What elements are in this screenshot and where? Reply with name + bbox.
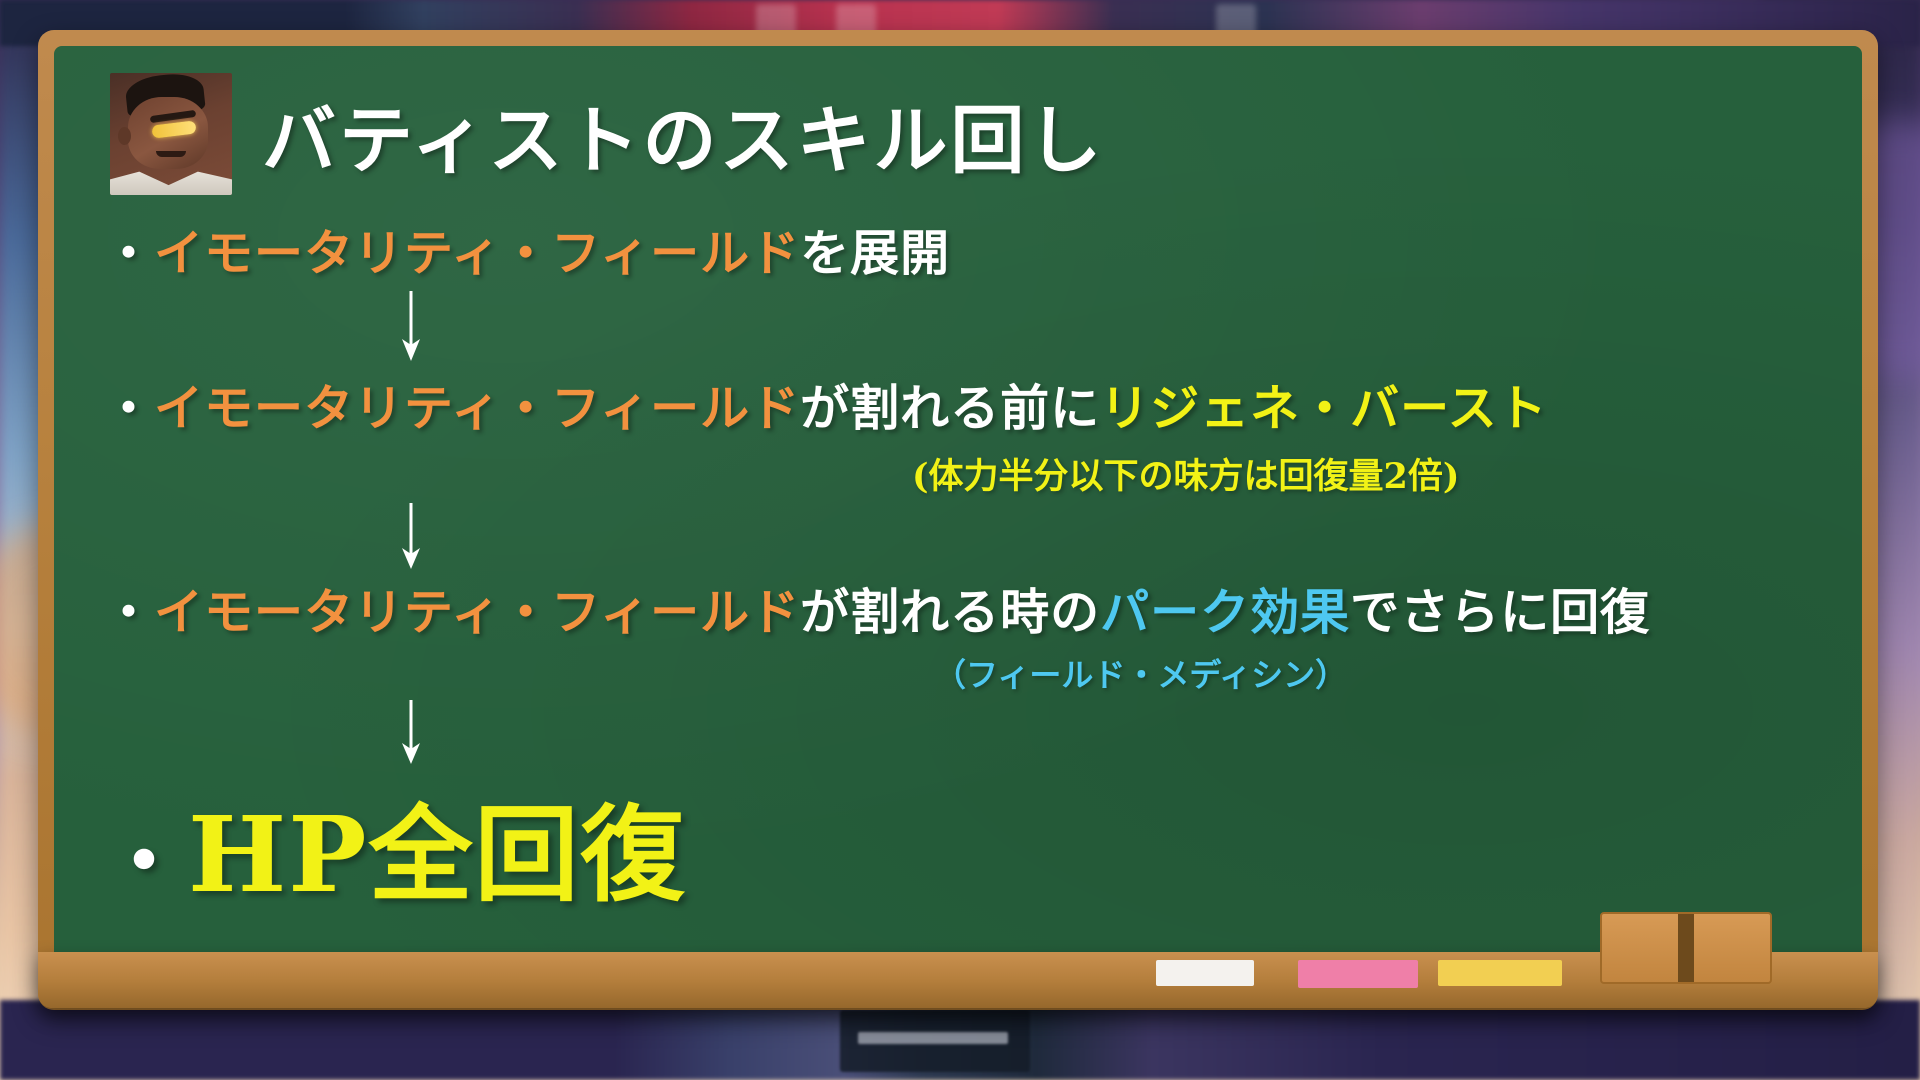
- step-3-bullet: ・: [104, 583, 154, 641]
- chalk-pink: [1298, 960, 1418, 988]
- baptiste-portrait-icon: [110, 73, 232, 195]
- page-title: バティストのスキル回し: [262, 81, 1105, 188]
- step-1: ・イモータリティ・フィールドを展開: [104, 214, 1822, 285]
- arrow-2-wrap: [94, 501, 1822, 573]
- step-3-tail: でさらに回復: [1350, 583, 1650, 641]
- step-1-bullet: ・: [104, 224, 154, 282]
- step-1-skill: イモータリティ・フィールド: [154, 224, 800, 282]
- chalkboard-surface: バティストのスキル回し ・イモータリティ・フィールドを展開 ・イモータリティ・フ…: [54, 46, 1862, 994]
- step-2-note: (体力半分以下の味方は回復量2倍): [912, 448, 1822, 499]
- step-2-skill: イモータリティ・フィールド: [154, 379, 800, 437]
- step-2-emphasis: リジェネ・バースト: [1100, 379, 1548, 437]
- widget-text-placeholder: [858, 1032, 1008, 1044]
- step-3-mid: が割れる時の: [800, 583, 1100, 641]
- screen-capture: バティストのスキル回し ・イモータリティ・フィールドを展開 ・イモータリティ・フ…: [0, 0, 1920, 1080]
- chalkboard-frame: バティストのスキル回し ・イモータリティ・フィールドを展開 ・イモータリティ・フ…: [38, 30, 1878, 1010]
- step-2-mid: が割れる前に: [800, 379, 1100, 437]
- step-3-emphasis: パーク効果: [1100, 583, 1350, 641]
- arrow-3-wrap: [94, 698, 1822, 768]
- result-bullet: ・: [102, 812, 188, 911]
- chalk-yellow: [1438, 960, 1562, 986]
- eraser: [1600, 912, 1772, 984]
- down-arrow-icon: [389, 501, 433, 571]
- step-3: ・イモータリティ・フィールドが割れる時のパーク効果でさらに回復: [104, 573, 1822, 644]
- chalk-tray: [38, 952, 1878, 1008]
- result-text: HP全回復: [188, 793, 686, 916]
- chalkboard-content: バティストのスキル回し ・イモータリティ・フィールドを展開 ・イモータリティ・フ…: [54, 46, 1862, 994]
- step-2-bullet: ・: [104, 379, 154, 437]
- chalk-white: [1156, 960, 1254, 986]
- down-arrow-icon: [389, 289, 433, 363]
- stream-overlay-widget: [840, 1010, 1030, 1072]
- step-2: ・イモータリティ・フィールドが割れる前にリジェネ・バースト: [104, 369, 1822, 440]
- step-1-tail: を展開: [800, 224, 950, 282]
- result-line: ・HP全回復: [102, 770, 1822, 921]
- step-3-skill: イモータリティ・フィールド: [154, 583, 800, 641]
- step-3-note: （フィールド・メディシン）: [934, 650, 1822, 696]
- down-arrow-icon: [389, 698, 433, 766]
- board-header: バティストのスキル回し: [110, 64, 1822, 204]
- arrow-1-wrap: [94, 289, 1822, 367]
